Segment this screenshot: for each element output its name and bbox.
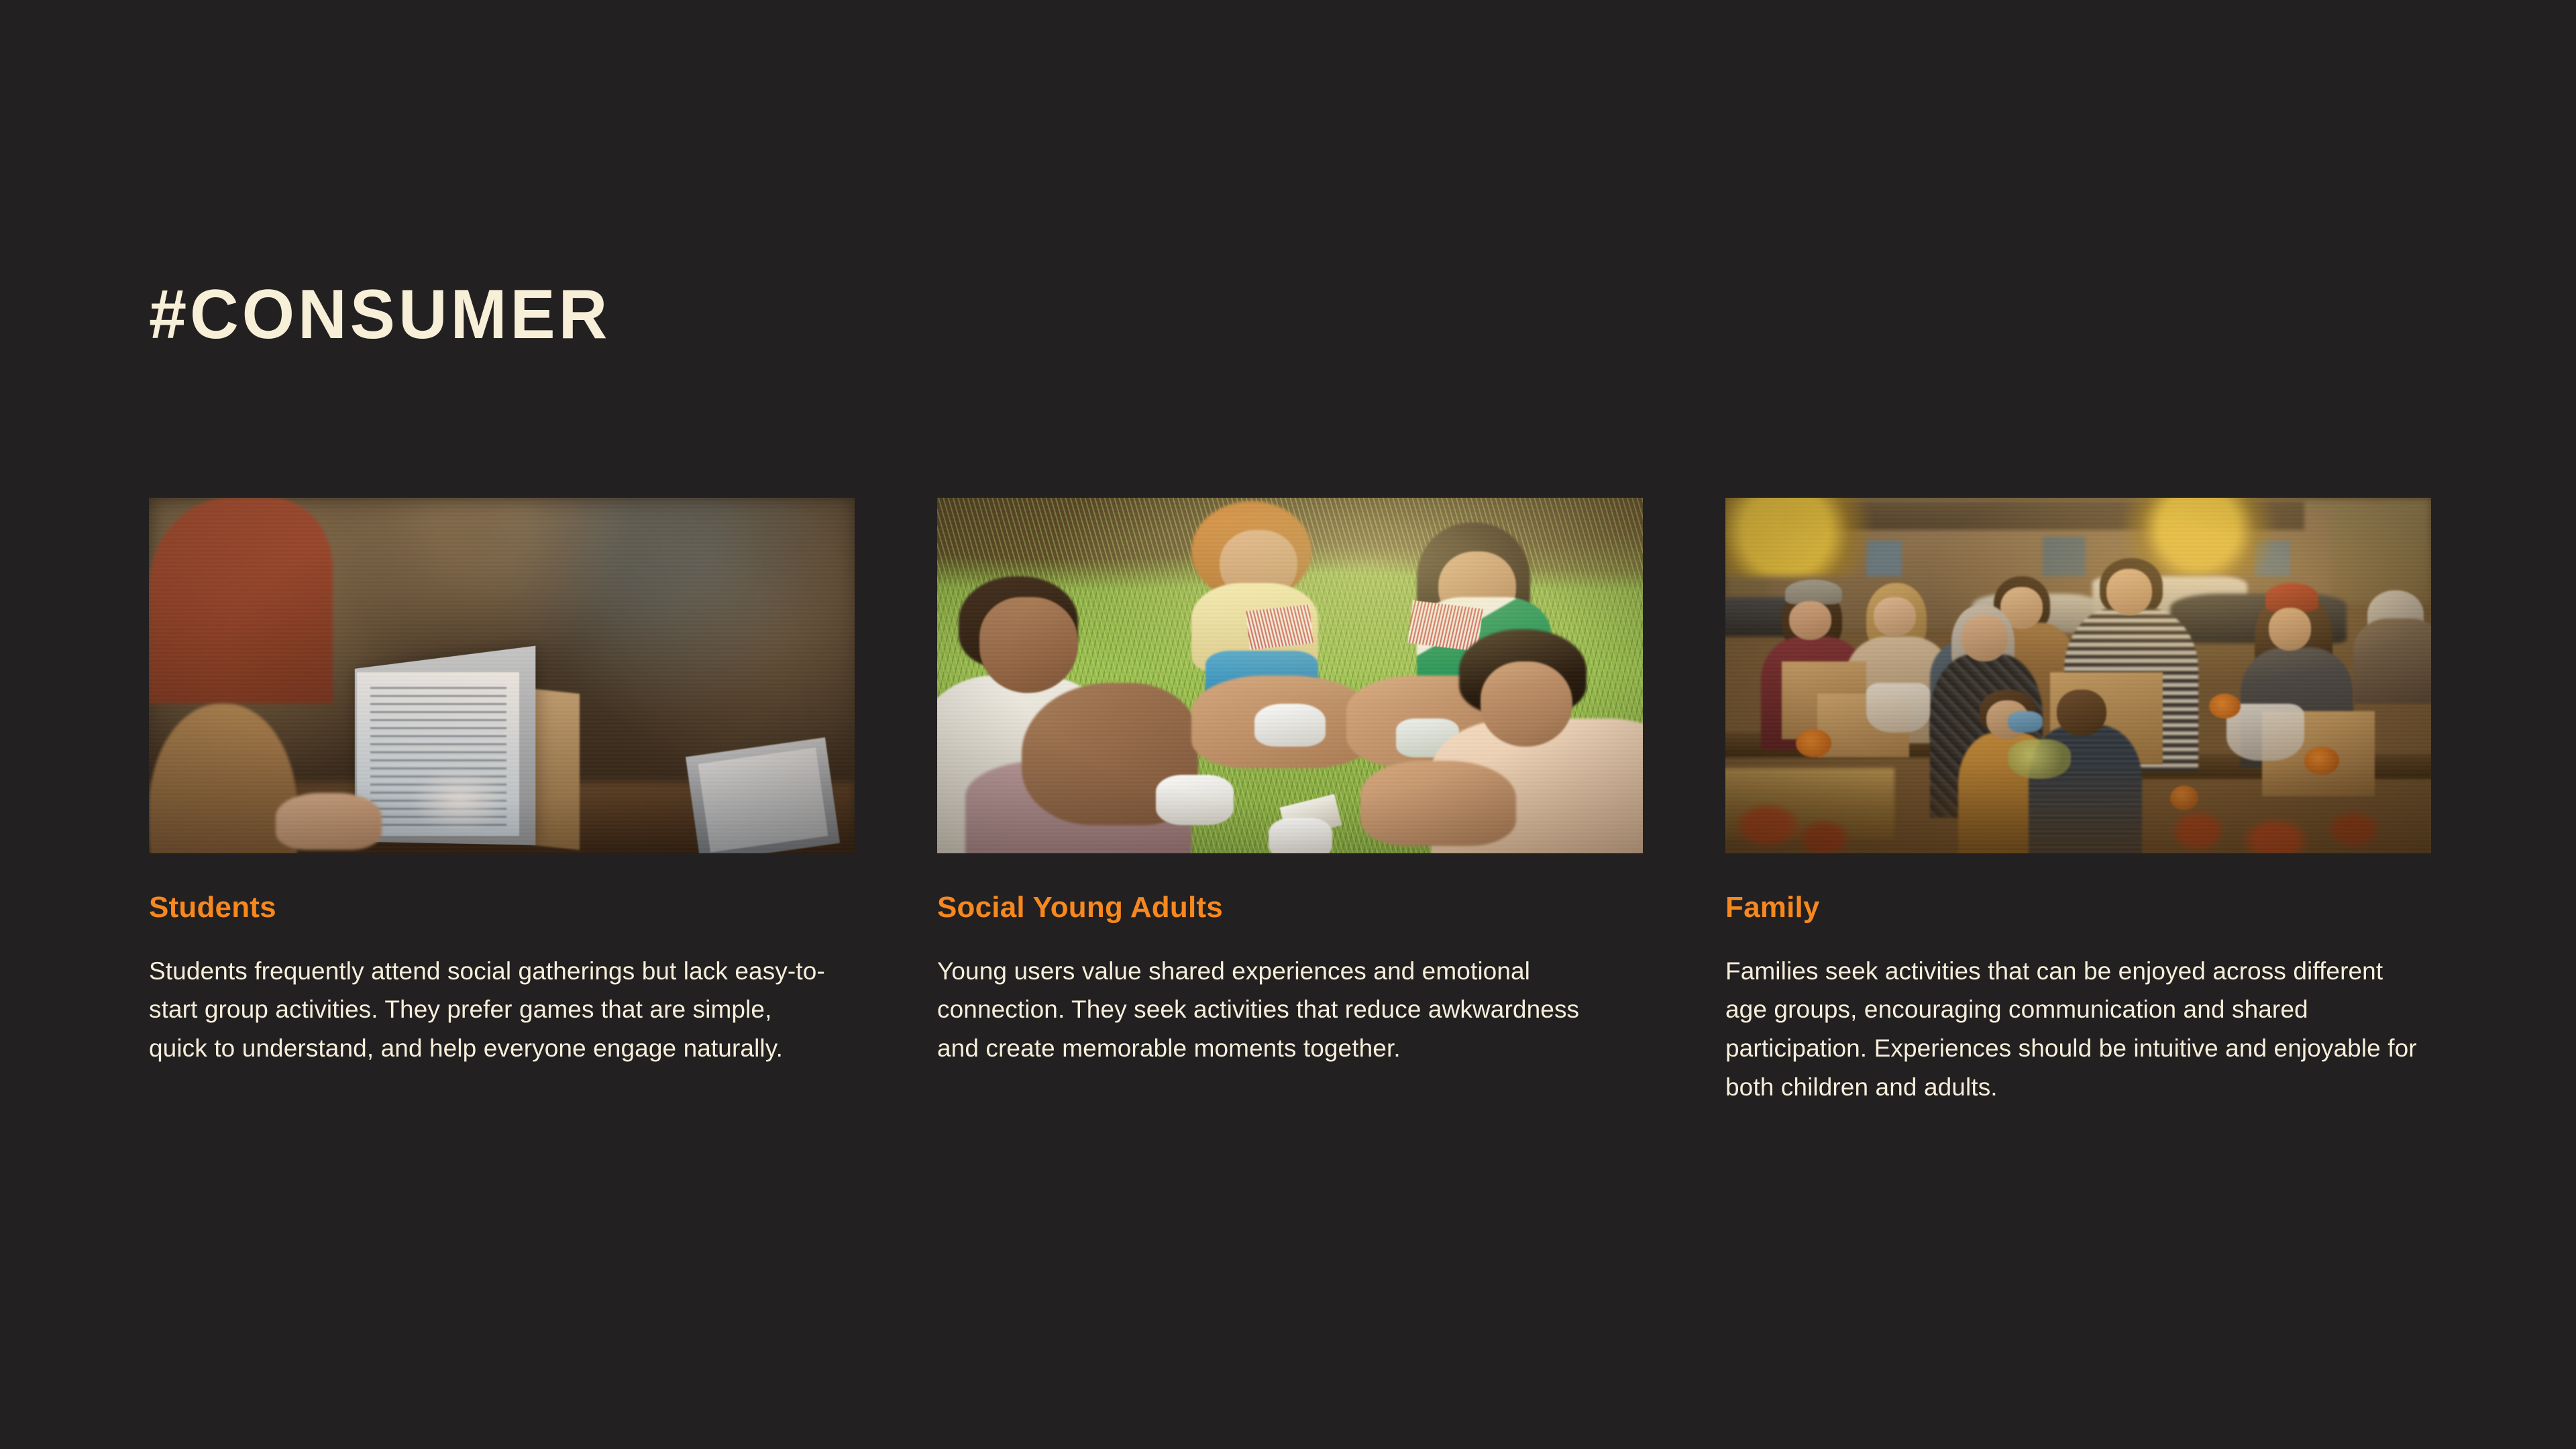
persona-column-social-young-adults: Social Young Adults Young users value sh… (937, 498, 1643, 1068)
persona-heading-students: Students (149, 891, 855, 925)
persona-column-family: Family Families seek activities that can… (1725, 498, 2431, 1106)
persona-columns: Students Students frequently attend soci… (149, 498, 2430, 1106)
persona-body-family: Families seek activities that can be enj… (1725, 952, 2431, 1107)
golden-hour-color-grade (1725, 498, 2431, 853)
persona-heading-social-young-adults: Social Young Adults (937, 891, 1643, 925)
family-community-autumn-food-drive-photo (1725, 498, 2431, 853)
photo-scene (149, 498, 855, 853)
sunlight-glow (937, 498, 1643, 853)
young-adults-playing-cards-on-grass-photo (937, 498, 1643, 853)
slide-canvas: #CONSUMER (0, 0, 2576, 1449)
warm-color-grade (149, 498, 855, 853)
photo-scene (937, 498, 1643, 853)
students-around-laptop-photo (149, 498, 855, 853)
page-title: #CONSUMER (149, 278, 610, 352)
persona-column-students: Students Students frequently attend soci… (149, 498, 855, 1068)
photo-scene (1725, 498, 2431, 853)
persona-heading-family: Family (1725, 891, 2431, 925)
persona-body-social-young-adults: Young users value shared experiences and… (937, 952, 1615, 1068)
persona-body-students: Students frequently attend social gather… (149, 952, 826, 1068)
